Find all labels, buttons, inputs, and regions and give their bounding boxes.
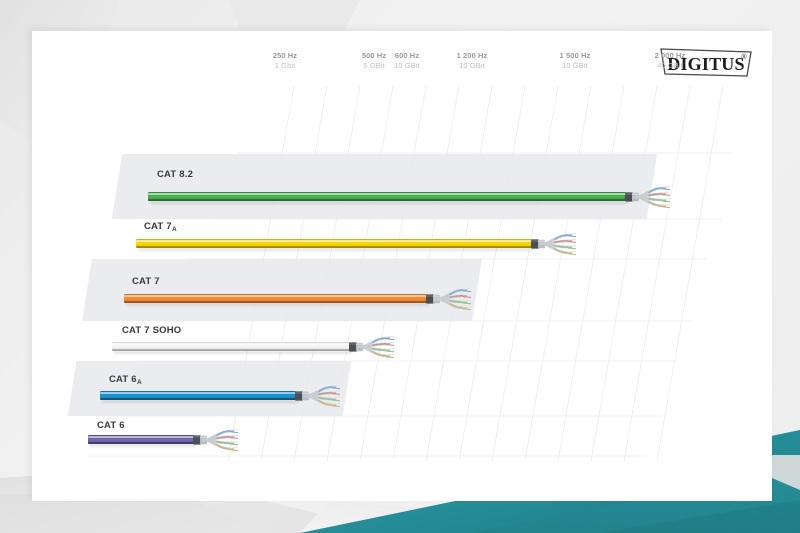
cable-comparison-chart: 250 Hz1 Gbit500 Hz5 GBit600 Hz10 GBit1 2…	[32, 31, 772, 501]
content-card: DIGITUS ®	[32, 31, 772, 501]
cable-label-cat-7-a: CAT 7A	[144, 221, 177, 232]
axis-tick: 1 500 Hz10 GBit	[535, 51, 615, 71]
cable-label-text: CAT 7	[144, 221, 172, 232]
cable-highlight	[100, 392, 296, 394]
cable-lowlight	[88, 442, 194, 444]
cable-label-cat-8-2: CAT 8.2	[157, 169, 193, 180]
axis-tick-bandwidth: 1 Gbit	[245, 61, 325, 71]
axis-tick-frequency: 250 Hz	[245, 51, 325, 61]
axis-tick: 2 000 Hz40 GBit	[630, 51, 710, 71]
cable-shadow	[102, 400, 298, 403]
cable-connector-end	[193, 431, 241, 449]
axis-tick-bandwidth: 10 GBit	[535, 61, 615, 71]
cable-lowlight	[112, 349, 350, 351]
cable-highlight	[148, 193, 626, 195]
cable-connector-end	[426, 290, 474, 308]
cable-lowlight	[148, 199, 626, 201]
cable-connector-end	[295, 387, 343, 405]
cable-connector-end	[625, 188, 673, 206]
cable-bar[interactable]	[88, 435, 194, 444]
cable-bar[interactable]	[112, 342, 350, 351]
cable-label-subscript: A	[172, 226, 177, 233]
cable-bar[interactable]	[124, 294, 427, 303]
cable-lowlight	[100, 398, 296, 400]
row-highlight-band	[82, 259, 482, 321]
axis-tick-frequency: 1 500 Hz	[535, 51, 615, 61]
axis-tick-frequency: 2 000 Hz	[630, 51, 710, 61]
row-highlight-band	[112, 154, 657, 219]
cable-shadow	[114, 351, 352, 354]
cable-bar[interactable]	[100, 391, 296, 400]
cable-lowlight	[136, 246, 532, 248]
cable-label-cat-7: CAT 7	[132, 276, 160, 287]
cable-label-text: CAT 6	[109, 374, 137, 385]
cable-shadow	[150, 201, 628, 204]
cable-bar[interactable]	[148, 192, 626, 201]
cable-shadow	[90, 444, 196, 447]
cable-highlight	[88, 436, 194, 438]
axis-tick-bandwidth: 40 GBit	[630, 61, 710, 71]
cable-label-cat-6-a: CAT 6A	[109, 374, 142, 385]
cable-lowlight	[124, 301, 427, 303]
cable-label-text: CAT 6	[97, 420, 125, 431]
cable-highlight	[124, 295, 427, 297]
axis-tick-bandwidth: 10 GBit	[432, 61, 512, 71]
cable-shadow	[138, 248, 534, 251]
cable-connector-end	[349, 338, 397, 356]
cable-highlight	[136, 240, 532, 242]
cable-bar[interactable]	[136, 239, 532, 248]
cable-connector-end	[531, 235, 579, 253]
cable-label-cat-7-soho: CAT 7 SOHO	[122, 325, 181, 336]
cable-label-subscript: A	[137, 379, 142, 386]
cable-label-text: CAT 8.2	[157, 169, 193, 180]
axis-tick: 250 Hz1 Gbit	[245, 51, 325, 71]
axis-tick-frequency: 1 200 Hz	[432, 51, 512, 61]
axis-tick: 1 200 Hz10 GBit	[432, 51, 512, 71]
cable-label-text: CAT 7	[132, 276, 160, 287]
cable-highlight	[112, 343, 350, 345]
cable-label-text: CAT 7 SOHO	[122, 325, 181, 336]
cable-shadow	[126, 303, 429, 306]
cable-label-cat-6: CAT 6	[97, 420, 125, 431]
